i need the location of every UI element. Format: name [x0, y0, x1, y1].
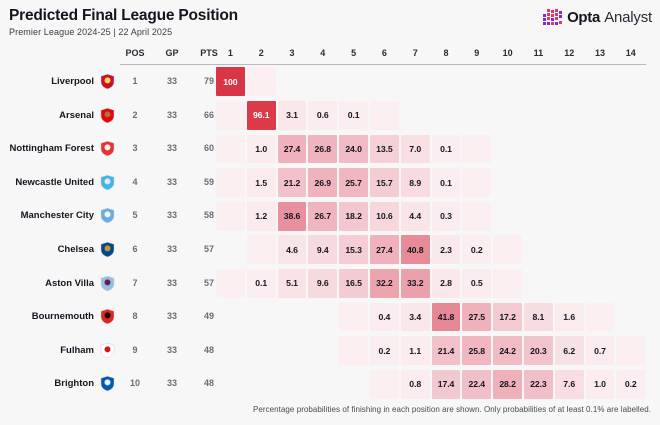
heatmap-cell: 8.1 [524, 303, 553, 332]
heatmap-cell: 3.4 [401, 303, 430, 332]
heatmap-cell: 10.6 [370, 202, 399, 231]
heatmap-row-cells: 1.027.426.824.013.57.00.1 [215, 132, 646, 166]
newcastle-united-badge [99, 174, 116, 191]
team-position: 9 [122, 334, 148, 368]
team-name: Manchester City [21, 199, 94, 233]
header: Predicted Final League Position Premier … [0, 0, 660, 44]
heatmap-row-cells: 0.21.121.425.824.220.36.20.7 [215, 334, 646, 368]
column-header-position-9: 9 [461, 48, 492, 58]
heatmap-cell: 24.2 [493, 336, 522, 365]
team-games-played: 33 [159, 367, 185, 401]
heatmap-cell: 18.2 [339, 202, 368, 231]
heatmap-cell: 0.3 [432, 202, 461, 231]
heatmap-cell: 0.2 [616, 370, 645, 399]
team-name: Arsenal [59, 99, 94, 133]
aston-villa-badge [99, 275, 116, 292]
heatmap-cell-empty [216, 101, 245, 130]
heatmap-cell: 17.2 [493, 303, 522, 332]
infographic-root: Predicted Final League Position Premier … [0, 0, 660, 425]
heatmap-cell: 0.1 [339, 101, 368, 130]
heatmap-cell: 96.1 [247, 101, 276, 130]
heatmap-cell: 24.0 [339, 135, 368, 164]
column-header-position-7: 7 [400, 48, 431, 58]
team-games-played: 33 [159, 300, 185, 334]
heatmap-cell: 7.0 [401, 135, 430, 164]
team-games-played: 33 [159, 267, 185, 301]
column-header-position-12: 12 [554, 48, 585, 58]
heatmap-cell: 0.5 [462, 269, 491, 298]
column-header-pos: POS [122, 48, 148, 58]
heatmap-cell: 2.3 [432, 235, 461, 264]
table-row: Manchester City533581.238.626.718.210.64… [0, 199, 660, 233]
table-row: Bournemouth833490.43.441.827.517.28.11.6 [0, 300, 660, 334]
team-name: Liverpool [51, 65, 94, 99]
heatmap-cell-empty [370, 370, 399, 399]
heatmap-cell: 5.1 [278, 269, 307, 298]
heatmap-cell-empty [462, 168, 491, 197]
team-games-played: 33 [159, 166, 185, 200]
chart-footnote: Percentage probabilities of finishing in… [0, 405, 651, 414]
heatmap-cell-empty [493, 269, 522, 298]
heatmap-cell-empty [616, 336, 645, 365]
column-header-gp: GP [159, 48, 185, 58]
heatmap-cell: 1.2 [247, 202, 276, 231]
heatmap-cell-empty [462, 135, 491, 164]
manchester-city-badge [99, 207, 116, 224]
heatmap-cell: 26.9 [308, 168, 337, 197]
heatmap-cell: 22.4 [462, 370, 491, 399]
heatmap-cell: 1.6 [555, 303, 584, 332]
team-games-played: 33 [159, 199, 185, 233]
heatmap-row-cells: 100 [215, 65, 646, 99]
heatmap-cell-empty [370, 101, 399, 130]
heatmap-cell-empty [339, 303, 368, 332]
column-header-position-11: 11 [523, 48, 554, 58]
column-header-position-1: 1 [215, 48, 246, 58]
heatmap-cell: 4.6 [278, 235, 307, 264]
team-games-played: 33 [159, 132, 185, 166]
team-name: Nottingham Forest [10, 132, 94, 166]
team-name: Fulham [60, 334, 94, 368]
heatmap-cell: 0.7 [586, 336, 615, 365]
page-subtitle: Premier League 2024-25 | 22 April 2025 [9, 27, 172, 37]
heatmap-cell: 26.7 [308, 202, 337, 231]
heatmap-cell: 9.6 [308, 269, 337, 298]
heatmap-cell-empty [339, 336, 368, 365]
heatmap-cell: 28.2 [493, 370, 522, 399]
column-header-position-8: 8 [431, 48, 462, 58]
heatmap-cell: 100 [216, 67, 245, 96]
heatmap-cell-empty [216, 135, 245, 164]
heatmap-cell: 9.4 [308, 235, 337, 264]
column-header-position-4: 4 [307, 48, 338, 58]
team-games-played: 33 [159, 99, 185, 133]
heatmap-row-cells: 4.69.415.327.440.82.30.2 [215, 233, 646, 267]
team-position: 10 [122, 367, 148, 401]
brand-wordmark: Opta Analyst [567, 10, 652, 25]
team-name: Chelsea [58, 233, 94, 267]
heatmap-row-cells: 0.15.19.616.532.233.22.80.5 [215, 267, 646, 301]
team-name: Bournemouth [32, 300, 94, 334]
table-row: Arsenal2336696.13.10.60.1 [0, 99, 660, 133]
team-position: 2 [122, 99, 148, 133]
heatmap-row-cells: 0.43.441.827.517.28.11.6 [215, 300, 646, 334]
heatmap-cell: 0.1 [432, 135, 461, 164]
column-header-row: POSGPPTS1234567891011121314 [0, 48, 660, 61]
heatmap-cell: 3.1 [278, 101, 307, 130]
brand-name-bold: Opta [567, 9, 600, 26]
table-row: Chelsea633574.69.415.327.440.82.30.2 [0, 233, 660, 267]
table-row: Nottingham Forest333601.027.426.824.013.… [0, 132, 660, 166]
heatmap-grid: Liverpool13379100Arsenal2336696.13.10.60… [0, 65, 660, 401]
heatmap-cell: 0.8 [401, 370, 430, 399]
column-header-position-5: 5 [338, 48, 369, 58]
heatmap-cell: 0.1 [247, 269, 276, 298]
column-header-position-6: 6 [369, 48, 400, 58]
column-header-position-3: 3 [277, 48, 308, 58]
column-header-position-14: 14 [615, 48, 646, 58]
heatmap-row-cells: 96.13.10.60.1 [215, 99, 646, 133]
brand-logo: Opta Analyst [543, 9, 652, 26]
heatmap-cell-empty [216, 202, 245, 231]
arsenal-badge [99, 107, 116, 124]
heatmap-row-cells: 1.238.626.718.210.64.40.3 [215, 199, 646, 233]
team-name: Newcastle United [15, 166, 94, 200]
heatmap-cell: 27.4 [278, 135, 307, 164]
brand-name-light: Analyst [604, 9, 652, 26]
heatmap-cell: 27.4 [370, 235, 399, 264]
table-row: Newcastle United433591.521.226.925.715.7… [0, 166, 660, 200]
team-games-played: 33 [159, 334, 185, 368]
heatmap-cell: 8.9 [401, 168, 430, 197]
heatmap-cell: 1.0 [586, 370, 615, 399]
heatmap-row-cells: 0.817.422.428.222.37.61.00.2 [215, 367, 646, 401]
heatmap-cell: 0.4 [370, 303, 399, 332]
opta-pixel-logo-icon [543, 9, 562, 26]
heatmap-cell: 27.5 [462, 303, 491, 332]
heatmap-cell: 2.8 [432, 269, 461, 298]
heatmap-cell-empty [216, 168, 245, 197]
column-header-position-13: 13 [585, 48, 616, 58]
heatmap-cell: 16.5 [339, 269, 368, 298]
bournemouth-badge [99, 308, 116, 325]
table-row: Aston Villa733570.15.19.616.532.233.22.8… [0, 267, 660, 301]
heatmap-cell: 41.8 [432, 303, 461, 332]
team-games-played: 33 [159, 65, 185, 99]
heatmap-cell: 0.1 [432, 168, 461, 197]
heatmap-cell: 26.8 [308, 135, 337, 164]
heatmap-cell: 13.5 [370, 135, 399, 164]
table-row: Brighton1033480.817.422.428.222.37.61.00… [0, 367, 660, 401]
heatmap-cell: 7.6 [555, 370, 584, 399]
heatmap-cell: 15.3 [339, 235, 368, 264]
heatmap-cell: 0.2 [462, 235, 491, 264]
heatmap-cell: 0.2 [370, 336, 399, 365]
fulham-badge [99, 342, 116, 359]
heatmap-cell: 6.2 [555, 336, 584, 365]
heatmap-cell: 22.3 [524, 370, 553, 399]
heatmap-cell-empty [462, 202, 491, 231]
team-position: 3 [122, 132, 148, 166]
team-name: Brighton [54, 367, 94, 401]
team-position: 1 [122, 65, 148, 99]
heatmap-cell-empty [247, 67, 276, 96]
heatmap-cell: 25.8 [462, 336, 491, 365]
column-header-position-2: 2 [246, 48, 277, 58]
team-position: 4 [122, 166, 148, 200]
heatmap-cell: 25.7 [339, 168, 368, 197]
table-row: Fulham933480.21.121.425.824.220.36.20.7 [0, 334, 660, 368]
heatmap-cell: 1.5 [247, 168, 276, 197]
column-header-position-10: 10 [492, 48, 523, 58]
heatmap-cell: 15.7 [370, 168, 399, 197]
table-row: Liverpool13379100 [0, 65, 660, 99]
page-title: Predicted Final League Position [9, 7, 238, 25]
team-position: 5 [122, 199, 148, 233]
heatmap-cell: 33.2 [401, 269, 430, 298]
heatmap-cell: 4.4 [401, 202, 430, 231]
heatmap-cell: 17.4 [432, 370, 461, 399]
nottingham-forest-badge [99, 140, 116, 157]
heatmap-cell: 0.6 [308, 101, 337, 130]
heatmap-cell: 38.6 [278, 202, 307, 231]
heatmap-cell-empty [216, 269, 245, 298]
team-games-played: 33 [159, 233, 185, 267]
heatmap-cell: 21.2 [278, 168, 307, 197]
heatmap-row-cells: 1.521.226.925.715.78.90.1 [215, 166, 646, 200]
heatmap-cell: 40.8 [401, 235, 430, 264]
heatmap-cell: 20.3 [524, 336, 553, 365]
heatmap-cell: 32.2 [370, 269, 399, 298]
heatmap-cell: 1.0 [247, 135, 276, 164]
team-position: 6 [122, 233, 148, 267]
heatmap-cell: 1.1 [401, 336, 430, 365]
brighton-badge [99, 375, 116, 392]
heatmap-cell: 21.4 [432, 336, 461, 365]
team-name: Aston Villa [45, 267, 94, 301]
heatmap-cell-empty [247, 235, 276, 264]
liverpool-badge [99, 73, 116, 90]
chelsea-badge [99, 241, 116, 258]
team-position: 7 [122, 267, 148, 301]
heatmap-cell-empty [586, 303, 615, 332]
team-position: 8 [122, 300, 148, 334]
heatmap-cell-empty [493, 235, 522, 264]
